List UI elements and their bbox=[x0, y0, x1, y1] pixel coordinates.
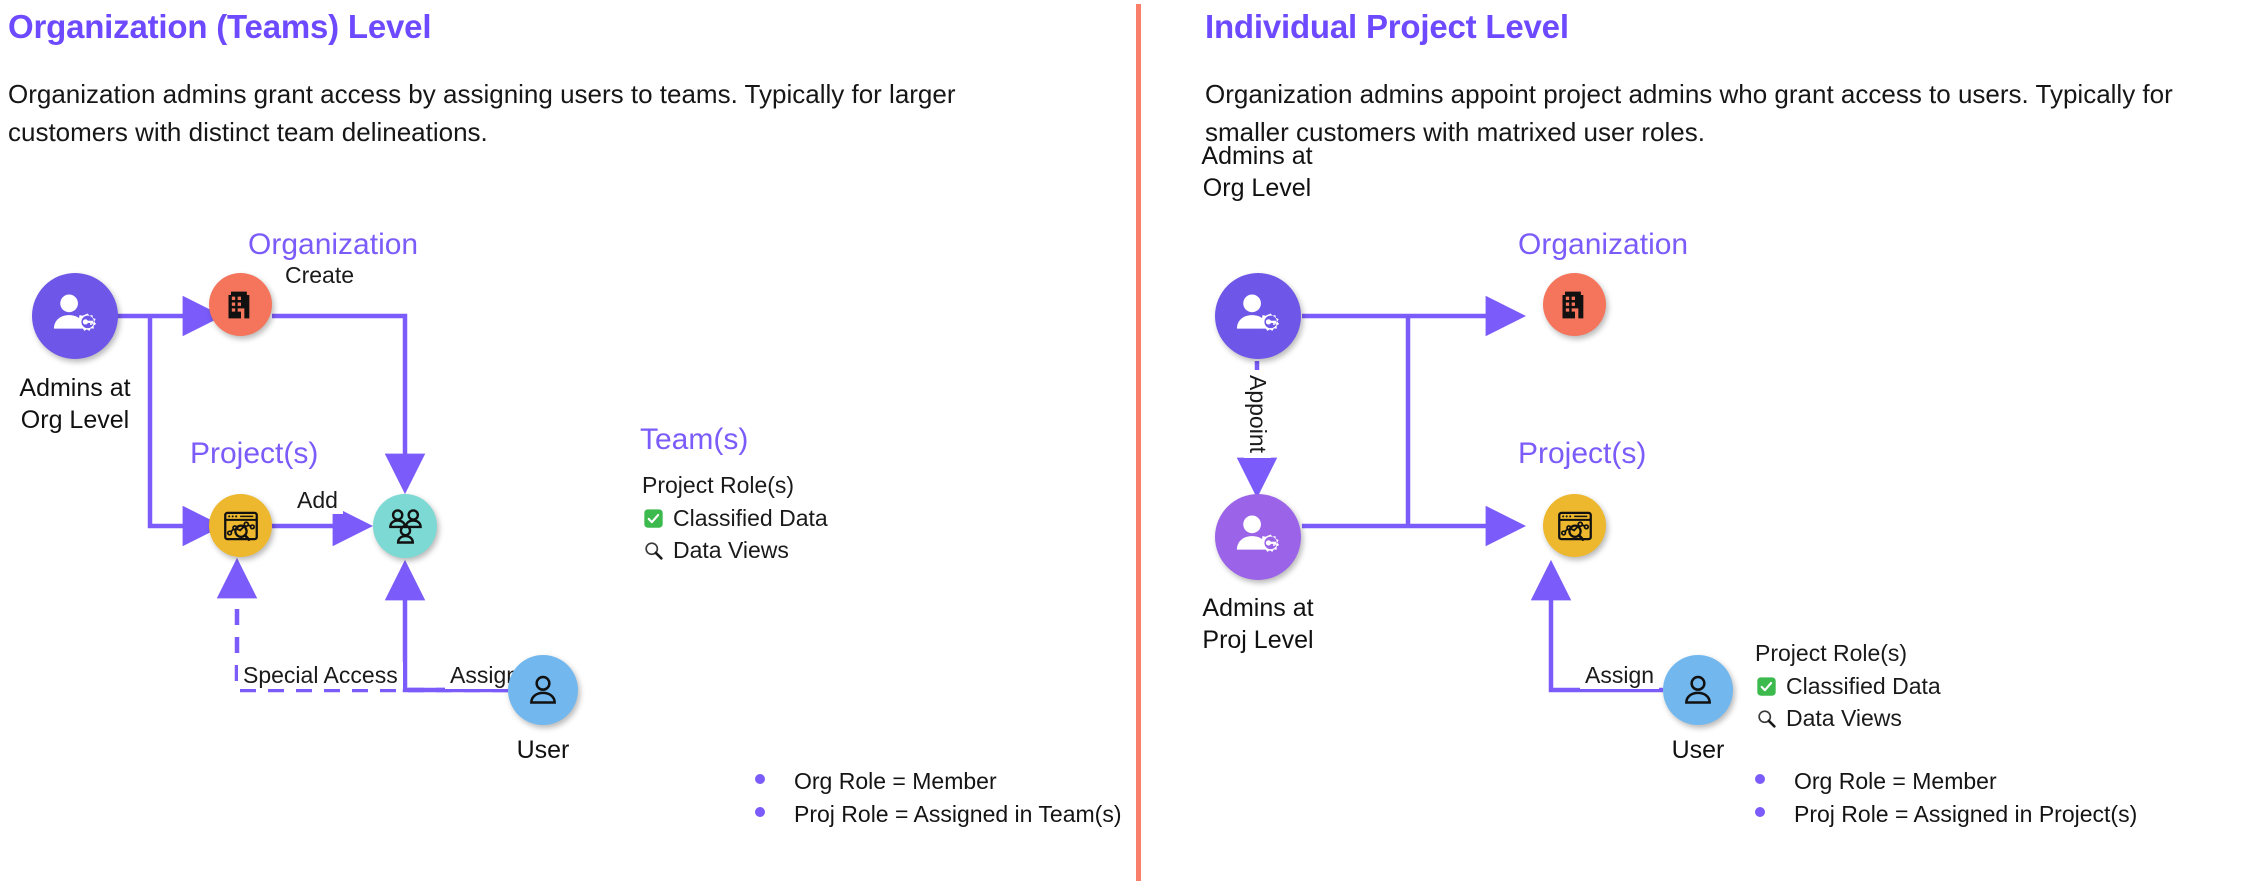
edge-label-appoint: Appoint bbox=[1244, 370, 1271, 458]
project-analytics-icon bbox=[1554, 505, 1596, 547]
admin-key-icon bbox=[48, 289, 102, 343]
category-label-organization-right: Organization bbox=[1518, 228, 1688, 262]
node-label-user-right: User bbox=[1663, 736, 1733, 765]
node-organization-right[interactable] bbox=[1543, 273, 1606, 336]
user-bullet-org-role-right: Org Role = Member bbox=[1794, 768, 1997, 795]
person-icon bbox=[523, 670, 563, 710]
role-label-data-views-left: Data Views bbox=[673, 537, 789, 564]
category-label-organization-left: Organization bbox=[248, 228, 418, 262]
edge-label-assign-right: Assign bbox=[1580, 662, 1659, 689]
node-user-left[interactable] bbox=[508, 655, 578, 725]
role-item-classified-data-right: Classified Data bbox=[1755, 673, 1941, 700]
category-label-project-right: Project(s) bbox=[1518, 437, 1646, 471]
list-item: Org Role = Member bbox=[755, 768, 1121, 795]
node-label-user-left: User bbox=[508, 736, 578, 765]
user-bullets-right: Org Role = Member Proj Role = Assigned i… bbox=[1755, 768, 2137, 834]
team-people-icon bbox=[383, 504, 427, 548]
role-item-classified-data-left: Classified Data bbox=[642, 505, 828, 532]
building-icon bbox=[221, 285, 261, 325]
edge-label-add: Add bbox=[292, 487, 343, 514]
node-admins-at-org-level-right[interactable] bbox=[1215, 273, 1301, 359]
list-item: Org Role = Member bbox=[1755, 768, 2137, 795]
bullet-dot-icon bbox=[1755, 807, 1765, 817]
check-green-icon bbox=[642, 508, 664, 530]
node-label-admins-at-org-level: Admins at Org Level bbox=[0, 372, 156, 436]
project-roles-title-right: Project Role(s) bbox=[1755, 640, 1941, 667]
user-bullet-proj-role-right: Proj Role = Assigned in Project(s) bbox=[1794, 801, 2137, 828]
admin-key-icon bbox=[1231, 510, 1285, 564]
panel-divider bbox=[1136, 4, 1141, 881]
category-label-team-left: Team(s) bbox=[640, 423, 748, 457]
bullet-dot-icon bbox=[755, 774, 765, 784]
user-bullet-proj-role-left: Proj Role = Assigned in Team(s) bbox=[794, 801, 1121, 828]
node-label-admins-at-org-level-right: Admins at Org Level bbox=[1175, 140, 1339, 204]
bullet-dot-icon bbox=[1755, 774, 1765, 784]
building-icon bbox=[1555, 285, 1595, 325]
bullet-dot-icon bbox=[755, 807, 765, 817]
project-analytics-icon bbox=[220, 505, 262, 547]
panel-organization-teams-level: Organization (Teams) Level Organization … bbox=[0, 0, 1130, 893]
role-label-classified-data-right: Classified Data bbox=[1786, 673, 1941, 700]
node-admins-at-org-level[interactable] bbox=[32, 273, 118, 359]
project-roles-left: Project Role(s) Classified Data bbox=[642, 472, 828, 569]
role-label-data-views-right: Data Views bbox=[1786, 705, 1902, 732]
project-roles-right: Project Role(s) Classified Data bbox=[1755, 640, 1941, 737]
magnifier-icon bbox=[642, 540, 664, 562]
node-admins-at-proj-level[interactable] bbox=[1215, 494, 1301, 580]
role-item-data-views-right: Data Views bbox=[1755, 705, 1941, 732]
user-bullets-left: Org Role = Member Proj Role = Assigned i… bbox=[755, 768, 1121, 834]
person-icon bbox=[1678, 670, 1718, 710]
diagram-canvas: Organization (Teams) Level Organization … bbox=[0, 0, 2251, 893]
magnifier-icon bbox=[1755, 708, 1777, 730]
panel-individual-project-level: Individual Project Level Organization ad… bbox=[1155, 0, 2251, 893]
list-item: Proj Role = Assigned in Team(s) bbox=[755, 801, 1121, 828]
node-organization-left[interactable] bbox=[209, 273, 272, 336]
list-item: Proj Role = Assigned in Project(s) bbox=[1755, 801, 2137, 828]
edge-label-create: Create bbox=[280, 262, 359, 289]
role-item-data-views-left: Data Views bbox=[642, 537, 828, 564]
node-team-left[interactable] bbox=[373, 494, 437, 558]
category-label-project-left: Project(s) bbox=[190, 437, 318, 471]
check-green-icon bbox=[1755, 676, 1777, 698]
node-project-right[interactable] bbox=[1543, 494, 1606, 557]
user-bullet-org-role-left: Org Role = Member bbox=[794, 768, 997, 795]
node-user-right[interactable] bbox=[1663, 655, 1733, 725]
edge-label-special-access: Special Access bbox=[238, 662, 403, 689]
node-project-left[interactable] bbox=[209, 494, 272, 557]
project-roles-title-left: Project Role(s) bbox=[642, 472, 828, 499]
admin-key-icon bbox=[1231, 289, 1285, 343]
role-label-classified-data-left: Classified Data bbox=[673, 505, 828, 532]
node-label-admins-at-proj-level: Admins at Proj Level bbox=[1175, 592, 1341, 656]
